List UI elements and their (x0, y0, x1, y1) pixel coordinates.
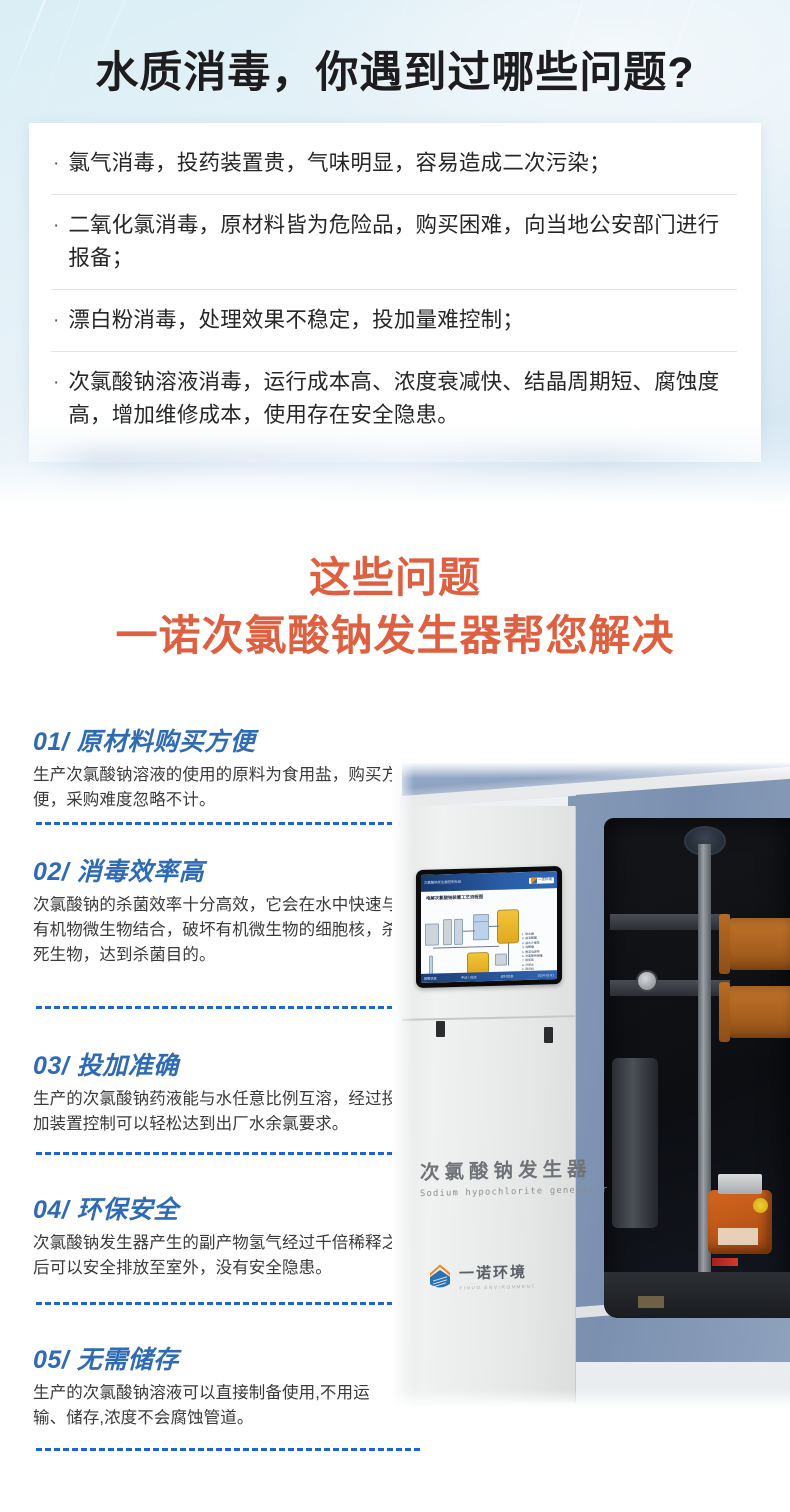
product-label: 次氯酸钠发生器 Sodium hypochlorite generator (420, 1152, 608, 1199)
feature-divider (36, 1006, 420, 1009)
bullet-icon: · (53, 367, 59, 398)
electrolysis-cell (728, 986, 790, 1038)
hmi-brand-text: 一诺环境 (538, 877, 552, 882)
warning-sticker-icon (753, 1198, 768, 1213)
flow-line (433, 946, 499, 948)
process-flow-diagram: 1. 软水器 2. 盐溶解罐 3. 盐水计量泵 4. 电解槽 5. 整流电源柜 … (423, 900, 555, 974)
flow-unit (443, 919, 452, 945)
flow-unit (454, 919, 463, 945)
feature-divider (36, 1302, 420, 1305)
product-photo: 次氯酸钠发生器控制系统 一诺环境 电解次氯酸钠装置工艺流程图 (392, 762, 790, 1414)
feature-body: 次氯酸钠的杀菌效率十分高效，它会在水中快速与有机物微生物结合，破坏有机微生物的细… (33, 893, 401, 968)
interior-rail (610, 914, 730, 930)
interior-rail (610, 980, 730, 996)
cabinet-floor (604, 1272, 790, 1318)
cabinet-interior-window (604, 818, 790, 1318)
flow-unit (425, 923, 439, 945)
feature-item-01: 01/ 原材料购买方便 生产次氯酸钠溶液的使用的原料为食用盐，购买方便，采购难度… (33, 722, 401, 813)
list-item: · 二氧化氯消毒，原材料皆为危险品，购买困难，向当地公安部门进行报备； (51, 195, 737, 290)
feature-body: 生产的次氯酸钠药液能与水任意比例互溶，经过投加装置控制可以轻松达到出厂水余氯要求… (33, 1087, 401, 1137)
bullet-icon: · (53, 305, 59, 336)
door-latch-icon (436, 1021, 445, 1037)
list-item: · 氯气消毒，投药装置贵，气味明显，容易造成二次污染； (51, 133, 737, 195)
feature-title: 01/ 原材料购买方便 (33, 722, 401, 758)
hmi-status-label: 运行状态 (501, 973, 514, 978)
feature-item-03: 03/ 投加准确 生产的次氯酸钠药液能与水任意比例互溶，经过投加装置控制可以轻松… (33, 1046, 401, 1137)
feature-divider (36, 822, 420, 825)
feature-body: 次氯酸钠发生器产生的副产物氢气经过千倍稀释之后可以安全排放至室外，没有安全隐患。 (33, 1231, 401, 1281)
feature-divider (36, 1152, 420, 1155)
brand-text: 一诺环境 YINUO ENVIRONMENT (459, 1261, 536, 1291)
feature-item-04: 04/ 环保安全 次氯酸钠发生器产生的副产物氢气经过千倍稀释之后可以安全排放至室… (33, 1190, 401, 1281)
feature-item-02: 02/ 消毒效率高 次氯酸钠的杀菌效率十分高效，它会在水中快速与有机物微生物结合… (33, 852, 401, 968)
pump-motor (708, 1190, 772, 1254)
feature-title: 02/ 消毒效率高 (33, 852, 401, 888)
hero-title: 水质消毒，你遇到过哪些问题? (0, 38, 790, 100)
hmi-screen[interactable]: 次氯酸钠发生器控制系统 一诺环境 电解次氯酸钠装置工艺流程图 (421, 871, 557, 983)
solution-heading: 这些问题 一诺次氯酸钠发生器帮您解决 (0, 552, 790, 662)
photo-fade-bottom (392, 1390, 790, 1414)
hmi-header: 次氯酸钠发生器控制系统 一诺环境 (421, 871, 557, 892)
hmi-header-title: 次氯酸钠发生器控制系统 (424, 880, 461, 886)
hmi-screen-title: 电解次氯酸钠装置工艺流程图 (426, 894, 483, 902)
problem-text: 漂白粉消毒，处理效果不稳定，投加量难控制； (68, 304, 524, 337)
solution-heading-line1: 这些问题 (0, 552, 790, 604)
solution-heading-line2: 一诺次氯酸钠发生器帮您解决 (0, 610, 790, 662)
door-latch-icon (544, 1027, 553, 1043)
hmi-touch-panel[interactable]: 次氯酸钠发生器控制系统 一诺环境 电解次氯酸钠装置工艺流程图 (416, 866, 562, 988)
hero-section: 水质消毒，你遇到过哪些问题? · 氯气消毒，投药装置贵，气味明显，容易造成二次污… (0, 0, 790, 506)
decorative-band (40, 452, 740, 478)
feature-title: 04/ 环保安全 (33, 1190, 401, 1226)
problem-text: 次氯酸钠溶液消毒，运行成本高、浓度衰减快、结晶周期短、腐蚀度高，增加维修成本，使… (68, 366, 733, 432)
problem-list-card: · 氯气消毒，投药装置贵，气味明显，容易造成二次污染； · 二氧化氯消毒，原材料… (29, 123, 761, 462)
photo-fade-top (392, 762, 790, 778)
list-item: · 次氯酸钠溶液消毒，运行成本高、浓度衰减快、结晶周期短、腐蚀度高，增加维修成本… (51, 352, 737, 446)
bullet-icon: · (53, 210, 59, 241)
interior-tank (612, 1058, 658, 1228)
feature-title: 03/ 投加准确 (33, 1046, 401, 1082)
problem-text: 氯气消毒，投药装置贵，气味明显，容易造成二次污染； (68, 147, 611, 180)
hmi-mode-button[interactable]: 手动 / 自动 (461, 974, 476, 979)
feature-item-05: 05/ 无需储存 生产的次氯酸钠溶液可以直接制备使用,不用运输、储存,浓度不会腐… (33, 1340, 401, 1431)
flow-line (508, 943, 509, 965)
flow-unit-tank (497, 909, 519, 944)
pressure-gauge-icon (636, 970, 658, 992)
photo-fade-left (392, 762, 414, 1414)
brand-logo-icon (531, 877, 537, 883)
bullet-icon: · (53, 148, 59, 179)
feature-body: 生产的次氯酸钠溶液可以直接制备使用,不用运输、储存,浓度不会腐蚀管道。 (33, 1381, 401, 1431)
brand-lockup: 一诺环境 YINUO ENVIRONMENT (428, 1261, 536, 1291)
problem-text: 二氧化氯消毒，原材料皆为危险品，购买困难，向当地公安部门进行报备； (68, 209, 733, 275)
list-item: · 漂白粉消毒，处理效果不稳定，投加量难控制； (51, 290, 737, 352)
feature-body: 生产次氯酸钠溶液的使用的原料为食用盐，购买方便，采购难度忽略不计。 (33, 763, 401, 813)
hmi-timestamp: 2024-01-01 (538, 973, 554, 977)
red-label (712, 1258, 738, 1266)
feature-title: 05/ 无需储存 (33, 1340, 401, 1376)
hmi-header-brand: 一诺环境 (529, 877, 554, 884)
flow-unit (495, 953, 507, 965)
feature-divider (36, 1448, 420, 1451)
nameplate (718, 1228, 758, 1245)
brand-name-cn: 一诺环境 (459, 1261, 536, 1284)
hmi-alarm-button[interactable]: 报警信息 (424, 975, 437, 980)
electrolysis-cell (728, 918, 790, 970)
brand-logo-icon (428, 1264, 452, 1291)
flow-unit (473, 914, 489, 922)
product-name-cn: 次氯酸钠发生器 (420, 1152, 608, 1185)
